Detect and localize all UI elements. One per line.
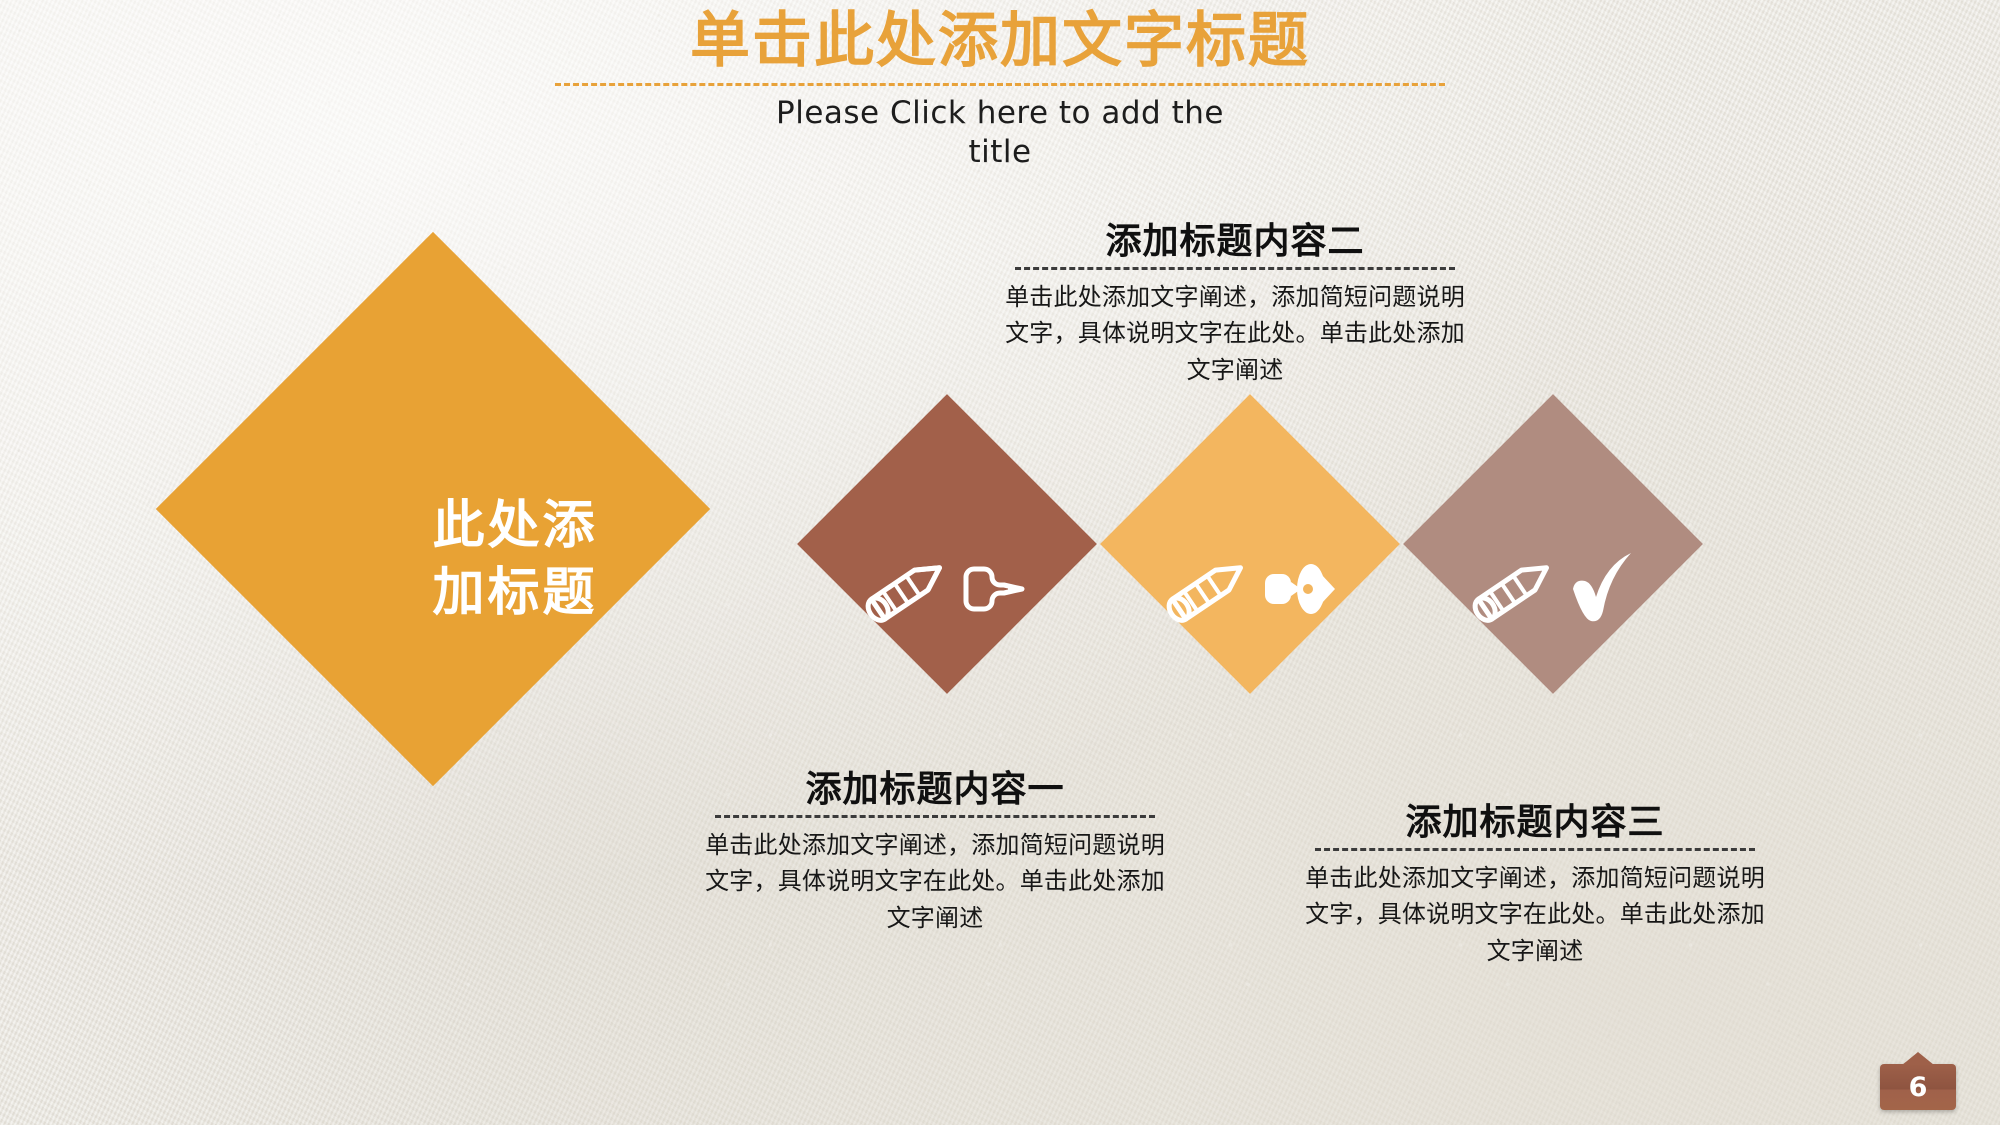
main-diamond-label-line1: 此处添 [320,493,710,560]
slide-canvas: 单击此处添加文字标题 Please Click here to add the … [0,0,2000,1125]
content-block-two: 添加标题内容二 单击此处添加文字阐述，添加简短问题说明文字，具体说明文字在此处。… [1000,222,1470,388]
content-block-one-divider [715,815,1155,818]
content-block-three: 添加标题内容三 单击此处添加文字阐述，添加简短问题说明文字，具体说明文字在此处。… [1300,803,1770,969]
title-divider [555,83,1445,86]
slide-header: 单击此处添加文字标题 Please Click here to add the … [460,8,1540,171]
pen-nib-outline-icon [960,561,1032,617]
pencil-icon [1469,551,1561,627]
pen-nib-filled-icon [1261,558,1337,620]
content-block-one: 添加标题内容一 单击此处添加文字阐述，添加简短问题说明文字，具体说明文字在此处。… [700,770,1170,936]
content-block-two-divider [1015,267,1455,270]
content-block-three-heading: 添加标题内容三 [1300,803,1770,843]
page-number-badge: 6 [1880,1064,1956,1110]
step-icon-group-3 [1438,531,1668,646]
pencil-icon [862,551,954,627]
page-subtitle: Please Click here to add the title [750,94,1250,171]
page-title: 单击此处添加文字标题 [460,8,1540,75]
main-diamond-label-line2: 加标题 [320,560,710,627]
pencil-icon [1163,551,1255,627]
content-block-one-body: 单击此处添加文字阐述，添加简短问题说明文字，具体说明文字在此处。单击此处添加文字… [700,827,1170,936]
page-number-label: 6 [1909,1074,1928,1101]
main-diamond-label: 此处添 加标题 [320,493,710,626]
step-icon-group-1 [832,531,1062,646]
content-block-two-heading: 添加标题内容二 [1000,222,1470,262]
content-block-three-body: 单击此处添加文字阐述，添加简短问题说明文字，具体说明文字在此处。单击此处添加文字… [1300,860,1770,969]
content-block-three-divider [1315,848,1755,851]
content-block-two-body: 单击此处添加文字阐述，添加简短问题说明文字，具体说明文字在此处。单击此处添加文字… [1000,279,1470,388]
content-block-one-heading: 添加标题内容一 [700,770,1170,810]
check-mark-icon [1567,549,1637,629]
step-icon-group-2 [1135,531,1365,646]
